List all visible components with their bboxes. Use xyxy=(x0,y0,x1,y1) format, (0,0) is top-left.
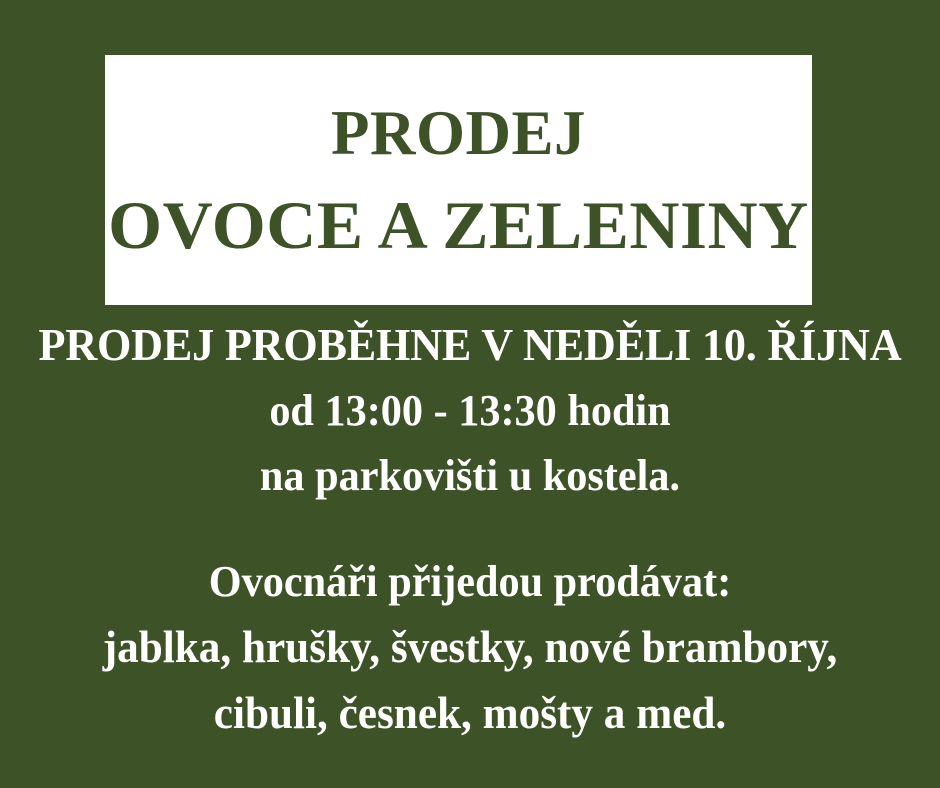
event-time-line: od 13:00 - 13:30 hodin xyxy=(19,389,921,433)
title-card: PRODEJ OVOCE A ZELENINY xyxy=(105,55,812,305)
goods-list-line-2: cibuli, česnek, mošty a med. xyxy=(19,691,921,736)
poster-body: PRODEJ PROBĚHNE V NEDĚLI 10. ŘÍJNA od 13… xyxy=(0,322,940,736)
event-place-line: na parkovišti u kostela. xyxy=(19,454,921,498)
poster-canvas: PRODEJ OVOCE A ZELENINY PRODEJ PROBĚHNE … xyxy=(0,0,940,788)
goods-paragraph: Ovocnáři přijedou prodávat: jablka, hruš… xyxy=(0,560,940,736)
goods-list-line-1: jablka, hrušky, švestky, nové brambory, xyxy=(19,625,921,670)
poster-title-line-2: OVOCE A ZELENINY xyxy=(108,191,809,259)
event-details-paragraph: PRODEJ PROBĚHNE V NEDĚLI 10. ŘÍJNA od 13… xyxy=(0,322,940,498)
goods-intro-line: Ovocnáři přijedou prodávat: xyxy=(19,560,921,604)
poster-title-line-1: PRODEJ xyxy=(331,102,586,165)
paragraph-spacer xyxy=(0,498,940,560)
event-date-line: PRODEJ PROBĚHNE V NEDĚLI 10. ŘÍJNA xyxy=(19,322,921,368)
